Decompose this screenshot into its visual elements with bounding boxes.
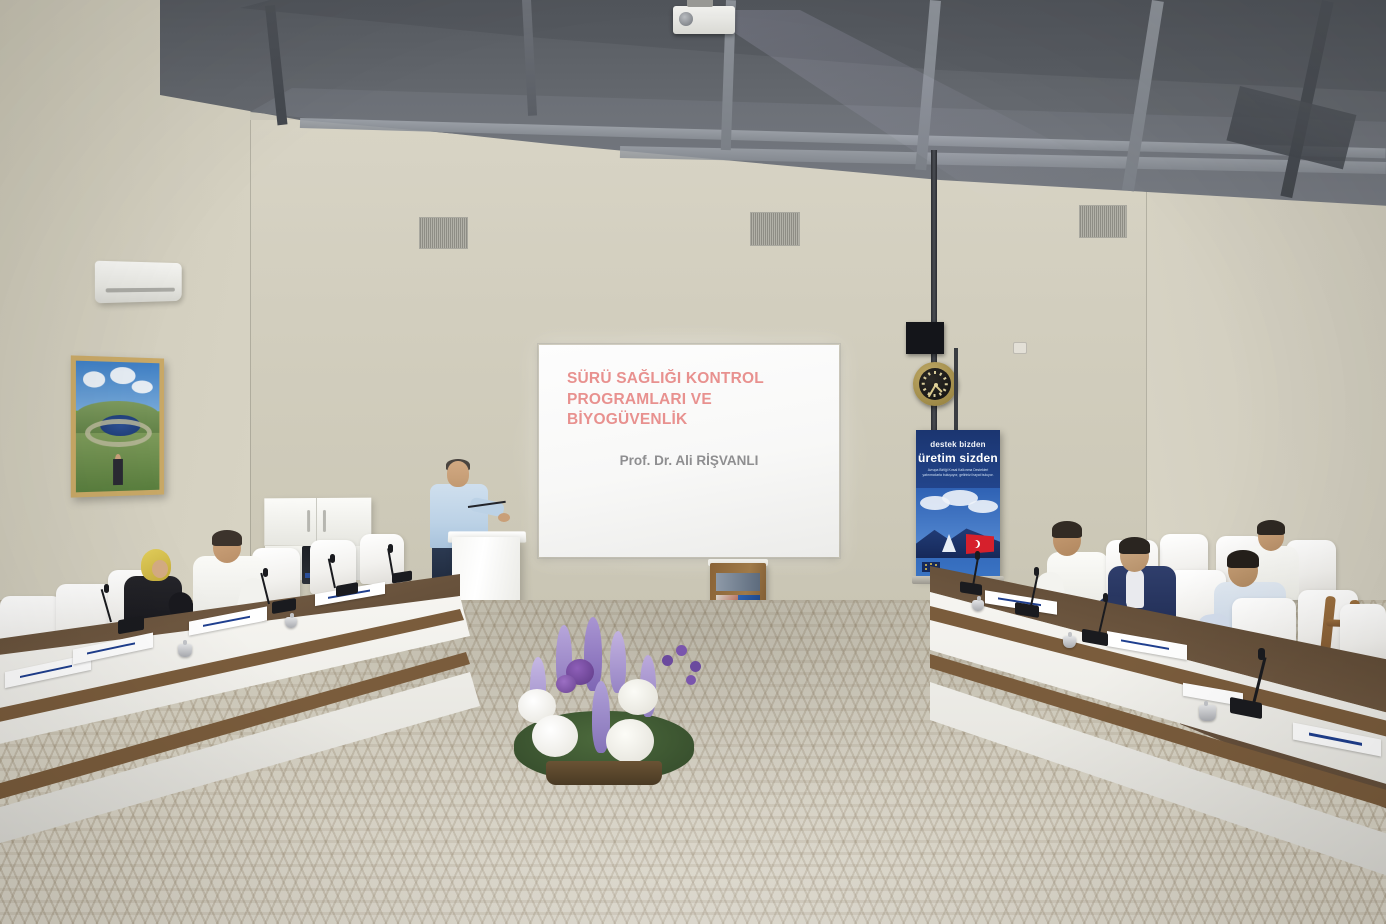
microphone-head-l1 <box>104 584 109 593</box>
photo-cloud-3 <box>132 380 153 393</box>
photo-cloud-1 <box>83 371 105 387</box>
banner-cone-shape <box>942 534 956 552</box>
silver-pot-r2 <box>1063 636 1076 648</box>
brochure-leaflet-1 <box>716 573 760 591</box>
screen-frame <box>537 343 841 559</box>
projector <box>673 6 735 34</box>
wall-corner-seam-left <box>250 120 251 600</box>
clock-tick-11 <box>928 372 931 375</box>
banner-line1: destek bizden <box>916 440 1000 449</box>
placard-text-band <box>1309 733 1362 746</box>
placard-text-band <box>1121 640 1169 651</box>
ac-louver-icon <box>106 288 175 293</box>
clock-tick-8 <box>923 388 926 391</box>
clock-tick-3 <box>945 383 948 385</box>
wall-vent-3 <box>1079 205 1127 238</box>
clock-tick-12 <box>934 371 936 374</box>
clock-center-pin <box>934 383 938 387</box>
wall-speaker-box <box>906 322 944 354</box>
placard-text-band <box>203 616 250 627</box>
projector-lens-icon <box>679 12 693 26</box>
attendee-navy-blazer-shirt <box>1126 568 1144 608</box>
flower-white-4 <box>606 719 654 763</box>
banner-subtitle: Avrupa Birliği Kırsal Kalkınma Destekler… <box>922 468 994 479</box>
photo-cloud-2 <box>110 367 135 384</box>
microphone-head-r3 <box>1103 593 1108 602</box>
flower-bud-3 <box>690 661 701 672</box>
clock-tick-4 <box>943 388 946 391</box>
photo-person-body <box>113 459 122 485</box>
clock-tick-1 <box>939 372 942 375</box>
wall-vent-2 <box>750 212 800 246</box>
attendee-man-white-shirt-hair <box>212 530 242 546</box>
flower-basket <box>546 761 662 785</box>
microphone-head-l2 <box>263 568 268 577</box>
rollup-banner: destek bizden üretim sizden Avrupa Birli… <box>916 430 1000 578</box>
photo-content <box>76 361 159 493</box>
brochure-slot-1 <box>716 573 760 591</box>
microphone-head-r4 <box>1258 648 1265 660</box>
microphone-head-r2 <box>1034 567 1039 576</box>
flower-bud-2 <box>676 645 687 656</box>
wall-clock <box>913 362 957 406</box>
wall-corner-seam-right <box>1146 130 1147 600</box>
silver-pot-r3 <box>1199 705 1216 721</box>
wall-vent-1 <box>419 217 468 249</box>
framed-landscape-photo <box>71 355 164 497</box>
clock-face <box>919 368 951 400</box>
attendee-light-blue-hair <box>1227 550 1259 568</box>
clock-tick-2 <box>943 377 946 380</box>
floral-centerpiece <box>500 615 715 790</box>
cabinet-handle-left[interactable] <box>307 510 310 532</box>
flower-bud-4 <box>686 675 696 685</box>
microphone-head-l4 <box>388 544 393 553</box>
speaker-hand <box>498 513 510 522</box>
microphone-head-l3 <box>330 554 335 563</box>
banner-line2: üretim sizden <box>916 451 1000 465</box>
flower-purple-2 <box>556 675 576 693</box>
attendee-woman-face <box>152 560 168 578</box>
flower-bud-1 <box>662 655 673 666</box>
air-conditioner <box>95 261 182 304</box>
cabinet-handle-right[interactable] <box>323 510 326 532</box>
conference-hall-scene: SÜRÜ SAĞLIĞI KONTROL PROGRAMLARI VE BİYO… <box>0 0 1386 924</box>
silver-pot-l1 <box>178 644 192 657</box>
turkish-flag-icon <box>966 534 994 554</box>
clock-tick-9 <box>922 383 925 385</box>
cabinet-door-seam <box>316 498 317 546</box>
flower-white-3 <box>532 715 578 757</box>
speaker-head <box>447 461 469 487</box>
clock-tick-10 <box>923 377 926 380</box>
storage-cabinet[interactable] <box>264 498 371 547</box>
banner-cloud-3 <box>968 500 998 513</box>
attendee-navy-blazer-hair <box>1119 537 1150 554</box>
attendee-rear-white-hair <box>1257 520 1285 535</box>
attendee-white-polo-hair <box>1052 521 1082 538</box>
flower-white-2 <box>618 679 658 715</box>
microphone-head-r1 <box>975 551 980 560</box>
light-switch[interactable] <box>1013 342 1027 354</box>
banner-pole <box>954 348 958 434</box>
clock-tick-6 <box>934 394 936 397</box>
photo-crater-rim <box>85 419 152 448</box>
